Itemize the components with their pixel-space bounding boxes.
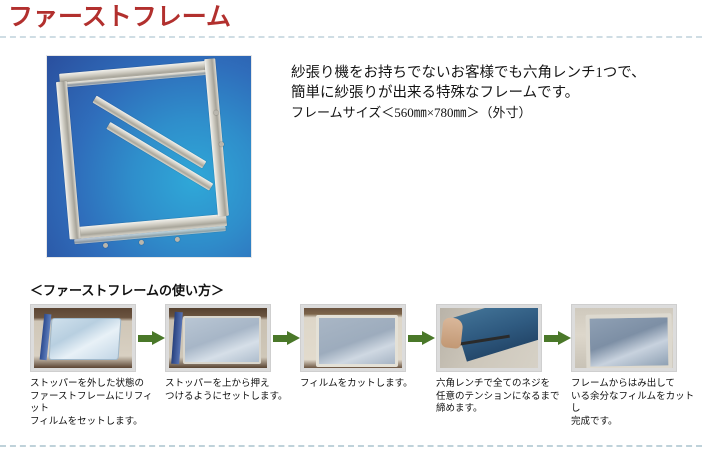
usage-step-2: ストッパーを上から押え つけるようにセットします。 xyxy=(165,304,277,403)
step-5-thumbnail xyxy=(571,304,677,372)
hand xyxy=(440,317,463,349)
frame-illustration xyxy=(46,55,252,258)
frame-size-spec: フレームサイズ＜560㎜×780㎜＞（外寸） xyxy=(291,103,691,123)
usage-step-5: フレームからはみ出して いる余分なフィルムをカットし 完成です。 xyxy=(571,304,683,428)
frame-rail xyxy=(453,308,538,362)
frame-screw-3 xyxy=(175,237,181,243)
step-arrow-icon xyxy=(544,331,572,345)
description-line-1: 紗張り機をお持ちでないお客様でも六角レンチ1つで、 xyxy=(291,63,691,83)
footer-divider xyxy=(0,445,702,447)
product-photo xyxy=(46,55,252,258)
refit-film xyxy=(316,315,398,367)
frame-bar-right xyxy=(204,58,229,216)
step-5-caption: フレームからはみ出して いる余分なフィルムをカットし 完成です。 xyxy=(571,378,699,428)
step-3-thumbnail xyxy=(300,304,406,372)
usage-step-3: フィルムをカットします。 xyxy=(300,304,412,391)
product-description: 紗張り機をお持ちでないお客様でも六角レンチ1つで、 簡単に紗張りが出来る特殊なフ… xyxy=(291,63,691,123)
finished-frame xyxy=(586,313,673,368)
frame-screw-1 xyxy=(103,243,109,249)
step-arrow-icon xyxy=(138,331,166,345)
frame-screw-5 xyxy=(219,141,225,147)
step-2-caption: ストッパーを上から押え つけるようにセットします。 xyxy=(165,378,293,403)
header-divider xyxy=(0,36,702,38)
usage-step-4: 六角レンチで全てのネジを 任意のテンションになるまで 締めます。 xyxy=(436,304,548,416)
page-title: ファーストフレーム xyxy=(8,2,231,34)
stopper-bar-upper xyxy=(92,96,206,169)
usage-steps: ストッパーを外した状態の ファーストフレームにリフィット フィルムをセットします… xyxy=(30,304,690,419)
step-1-thumbnail xyxy=(30,304,136,372)
step-4-thumbnail xyxy=(436,304,542,372)
usage-step-1: ストッパーを外した状態の ファーストフレームにリフィット フィルムをセットします… xyxy=(30,304,142,428)
refit-film xyxy=(49,318,122,360)
step-arrow-icon xyxy=(408,331,436,345)
step-4-caption: 六角レンチで全てのネジを 任意のテンションになるまで 締めます。 xyxy=(436,378,564,416)
step-2-thumbnail xyxy=(165,304,271,372)
step-arrow-icon xyxy=(273,331,301,345)
frame-bar-left xyxy=(56,81,81,239)
description-line-2: 簡単に紗張りが出来る特殊なフレームです。 xyxy=(291,83,691,103)
step-3-caption: フィルムをカットします。 xyxy=(300,378,428,391)
step-1-caption: ストッパーを外した状態の ファーストフレームにリフィット フィルムをセットします… xyxy=(30,378,158,428)
frame-screw-2 xyxy=(139,240,145,246)
stopper-bar xyxy=(171,312,183,364)
usage-section-heading: ＜ファーストフレームの使い方＞ xyxy=(30,280,224,299)
refit-film xyxy=(183,316,261,364)
